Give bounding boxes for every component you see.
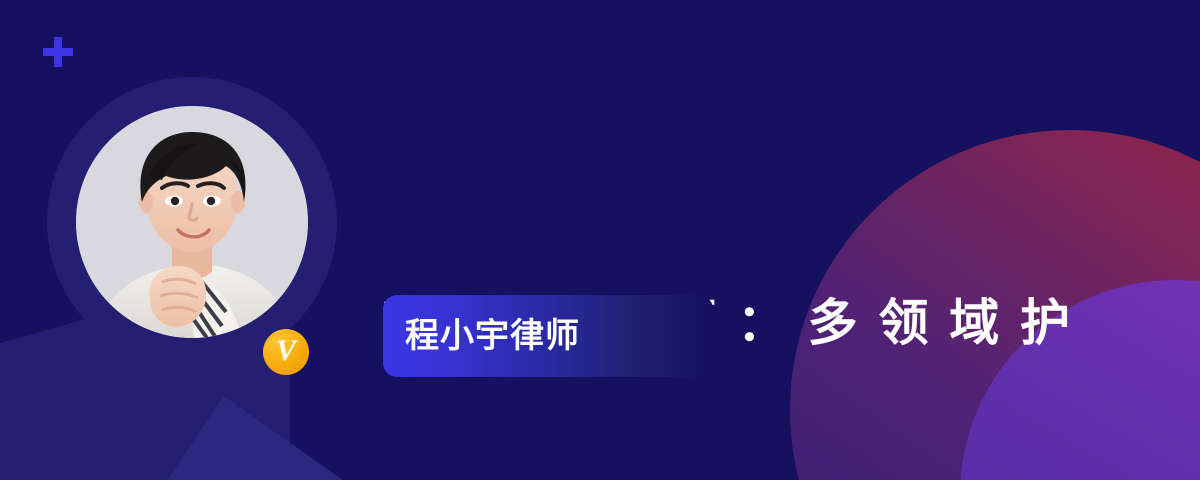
plus-icon-vertical-bar (54, 37, 62, 67)
lawyer-name-button[interactable]: 程小宇律师 (383, 295, 713, 377)
plus-icon-horizontal-bar (43, 48, 73, 56)
avatar[interactable]: V (47, 77, 337, 367)
plus-icon (43, 37, 73, 67)
decorative-triangle-left (150, 396, 380, 480)
verified-badge-label: V (276, 336, 296, 366)
verified-badge-icon: V (263, 329, 309, 375)
promo-banner: V 程小宇律师：多领域护 航，守护当事人合法权益 程小宇律师 (0, 0, 1200, 480)
avatar-photo (76, 106, 308, 338)
